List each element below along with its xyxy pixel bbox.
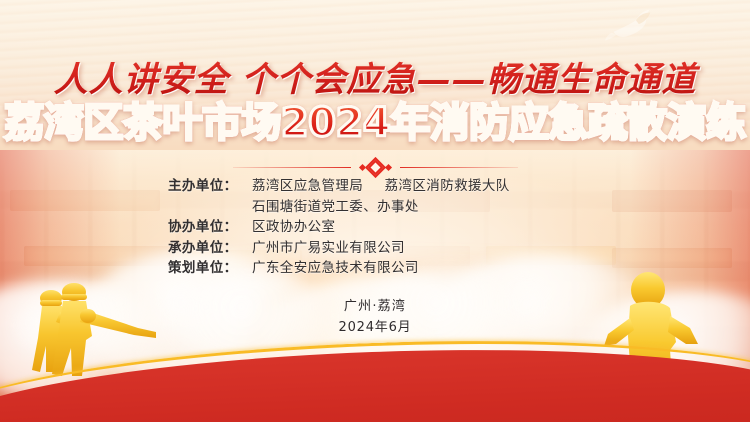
organizer-row-host-continued: 石围塘街道党工委、办事处 xyxy=(168,197,588,218)
organizer-label-planner: 策划单位： xyxy=(168,258,252,279)
diamond-small-right xyxy=(384,164,391,171)
organizer-host-3: 石围塘街道党工委、办事处 xyxy=(252,199,419,215)
organizer-block: 主办单位： 荔湾区应急管理局 荔湾区消防救援大队 石围塘街道党工委、办事处 协办… xyxy=(0,176,750,279)
footer-location: 广州·荔湾 xyxy=(0,296,750,317)
organizer-row-host: 主办单位： 荔湾区应急管理局 荔湾区消防救援大队 xyxy=(168,176,588,197)
diamond-ornament-icon xyxy=(360,160,391,175)
poster-headline: 人人讲安全 个个会应急——畅通生命通道 xyxy=(0,52,750,101)
poster-canvas: 人人讲安全 个个会应急——畅通生命通道 荔湾区茶叶市场2024年消防应急疏散演练… xyxy=(0,0,750,422)
organizer-value-coorganizer: 区政协办公室 xyxy=(252,217,335,238)
organizer-label-host: 主办单位： xyxy=(168,176,252,197)
divider-line-right xyxy=(400,167,518,169)
organizer-host-1: 荔湾区应急管理局 xyxy=(252,178,363,194)
organizer-label-undertaker: 承办单位： xyxy=(168,238,252,259)
footer-date: 2024年6月 xyxy=(0,317,750,338)
decorative-divider xyxy=(0,160,750,175)
organizer-row-planner: 策划单位： 广东全安应急技术有限公司 xyxy=(168,258,588,279)
diamond-large-center xyxy=(364,157,385,178)
organizer-value-undertaker: 广州市广易实业有限公司 xyxy=(252,238,405,259)
organizer-value-planner: 广东全安应急技术有限公司 xyxy=(252,258,419,279)
organizer-host-2: 荔湾区消防救援大队 xyxy=(385,178,510,194)
organizer-row-undertaker: 承办单位： 广州市广易实业有限公司 xyxy=(168,238,588,259)
organizer-row-coorganizer: 协办单位： 区政协办公室 xyxy=(168,217,588,238)
divider-line-left xyxy=(233,167,351,169)
main-title-text: 荔湾区茶叶市场2024年消防应急疏散演练 xyxy=(4,100,745,146)
band-gold-edge xyxy=(0,326,750,422)
footer-block: 广州·荔湾 2024年6月 xyxy=(0,296,750,338)
dove-icon xyxy=(604,6,662,46)
organizer-label-coorganizer: 协办单位： xyxy=(168,217,252,238)
organizer-value-host: 荔湾区应急管理局 荔湾区消防救援大队 xyxy=(252,176,510,197)
page-title: 荔湾区茶叶市场2024年消防应急疏散演练 xyxy=(0,100,750,146)
